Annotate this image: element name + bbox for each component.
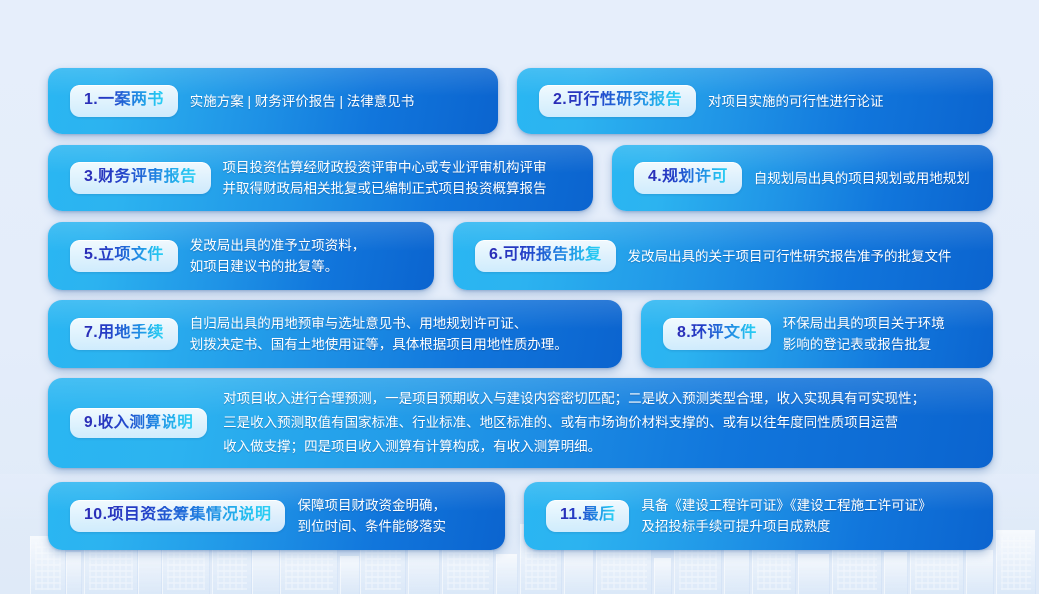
card-6-label-pill: 6.可研报告批复 xyxy=(475,240,616,271)
card-2-description: 对项目实施的可行性进行论证 xyxy=(708,91,884,112)
checklist-card-9[interactable]: 9.收入测算说明 对项目收入进行合理预测，一是项目预期收入与建设内容密切匹配；二… xyxy=(48,378,993,468)
checklist-card-6[interactable]: 6.可研报告批复 发改局出具的关于项目可行性研究报告准予的批复文件 xyxy=(453,222,993,290)
card-11-description: 具备《建设工程许可证》《建设工程施工许可证》 及招投标手续可提升项目成熟度 xyxy=(641,495,931,537)
card-4-label-text: 4.规划许可 xyxy=(648,168,728,185)
card-3-description: 项目投资估算经财政投资评审中心或专业评审机构评审 并取得财政局相关批复或已编制正… xyxy=(223,157,547,199)
card-10-label-text: 10.项目资金筹集情况说明 xyxy=(84,506,271,523)
checklist-card-10[interactable]: 10.项目资金筹集情况说明 保障项目财政资金明确， 到位时间、条件能够落实 xyxy=(48,482,505,550)
card-7-label-text: 7.用地手续 xyxy=(84,324,164,341)
row-3-gap xyxy=(434,222,453,290)
card-6-label-text: 6.可研报告批复 xyxy=(489,246,602,263)
checklist-row-4: 7.用地手续 自归局出具的用地预审与选址意见书、用地规划许可证、 划拨决定书、国… xyxy=(48,300,993,368)
checklist-card-3[interactable]: 3.财务评审报告 项目投资估算经财政投资评审中心或专业评审机构评审 并取得财政局… xyxy=(48,145,593,211)
card-2-label-pill: 2.可行性研究报告 xyxy=(539,85,696,116)
checklist-card-2[interactable]: 2.可行性研究报告 对项目实施的可行性进行论证 xyxy=(517,68,993,134)
checklist-card-4[interactable]: 4.规划许可 自规划局出具的项目规划或用地规划 xyxy=(612,145,993,211)
checklist-board: 1.一案两书 实施方案 | 财务评价报告 | 法律意见书 2.可行性研究报告 对… xyxy=(0,0,1039,594)
checklist-card-7[interactable]: 7.用地手续 自归局出具的用地预审与选址意见书、用地规划许可证、 划拨决定书、国… xyxy=(48,300,622,368)
card-9-label-pill: 9.收入测算说明 xyxy=(70,408,207,439)
card-4-description: 自规划局出具的项目规划或用地规划 xyxy=(754,168,970,189)
card-10-label-pill: 10.项目资金筹集情况说明 xyxy=(70,500,285,531)
checklist-row-1: 1.一案两书 实施方案 | 财务评价报告 | 法律意见书 2.可行性研究报告 对… xyxy=(48,68,993,134)
row-4-gap xyxy=(622,300,641,368)
card-5-label-pill: 5.立项文件 xyxy=(70,240,178,271)
checklist-row-3: 5.立项文件 发改局出具的准予立项资料， 如项目建议书的批复等。 6.可研报告批… xyxy=(48,222,993,290)
card-10-description: 保障项目财政资金明确， 到位时间、条件能够落实 xyxy=(297,495,446,537)
card-2-label-text: 2.可行性研究报告 xyxy=(553,91,682,108)
checklist-row-2: 3.财务评审报告 项目投资估算经财政投资评审中心或专业评审机构评审 并取得财政局… xyxy=(48,145,993,211)
card-8-label-text: 8.环评文件 xyxy=(677,324,757,341)
checklist-row-5: 9.收入测算说明 对项目收入进行合理预测，一是项目预期收入与建设内容密切匹配；二… xyxy=(48,378,993,468)
card-11-label-pill: 11.最后 xyxy=(546,500,629,531)
checklist-card-5[interactable]: 5.立项文件 发改局出具的准予立项资料， 如项目建议书的批复等。 xyxy=(48,222,434,290)
card-3-label-pill: 3.财务评审报告 xyxy=(70,162,211,193)
checklist-card-11[interactable]: 11.最后 具备《建设工程许可证》《建设工程施工许可证》 及招投标手续可提升项目… xyxy=(524,482,993,550)
card-4-label-pill: 4.规划许可 xyxy=(634,162,742,193)
checklist-card-8[interactable]: 8.环评文件 环保局出具的项目关于环境 影响的登记表或报告批复 xyxy=(641,300,993,368)
card-8-description: 环保局出具的项目关于环境 影响的登记表或报告批复 xyxy=(783,313,945,355)
checklist-card-1[interactable]: 1.一案两书 实施方案 | 财务评价报告 | 法律意见书 xyxy=(48,68,498,134)
card-8-label-pill: 8.环评文件 xyxy=(663,318,771,349)
card-9-label-text: 9.收入测算说明 xyxy=(84,414,193,431)
checklist-row-6: 10.项目资金筹集情况说明 保障项目财政资金明确， 到位时间、条件能够落实 11… xyxy=(48,482,993,550)
card-6-description: 发改局出具的关于项目可行性研究报告准予的批复文件 xyxy=(628,246,952,267)
card-1-label-pill: 1.一案两书 xyxy=(70,85,178,116)
row-1-gap xyxy=(498,68,517,134)
card-1-description: 实施方案 | 财务评价报告 | 法律意见书 xyxy=(190,91,415,112)
row-2-gap xyxy=(593,145,612,211)
card-3-label-text: 3.财务评审报告 xyxy=(84,168,197,185)
card-7-description: 自归局出具的用地预审与选址意见书、用地规划许可证、 划拨决定书、国有土地使用证等… xyxy=(190,313,568,355)
row-6-gap xyxy=(505,482,524,550)
card-9-description: 对项目收入进行合理预测，一是项目预期收入与建设内容密切匹配；二是收入预测类型合理… xyxy=(223,387,925,459)
card-1-label-text: 1.一案两书 xyxy=(84,91,164,108)
card-11-label-text: 11.最后 xyxy=(560,506,615,523)
card-5-label-text: 5.立项文件 xyxy=(84,246,164,263)
card-5-description: 发改局出具的准予立项资料， 如项目建议书的批复等。 xyxy=(190,235,366,277)
card-7-label-pill: 7.用地手续 xyxy=(70,318,178,349)
